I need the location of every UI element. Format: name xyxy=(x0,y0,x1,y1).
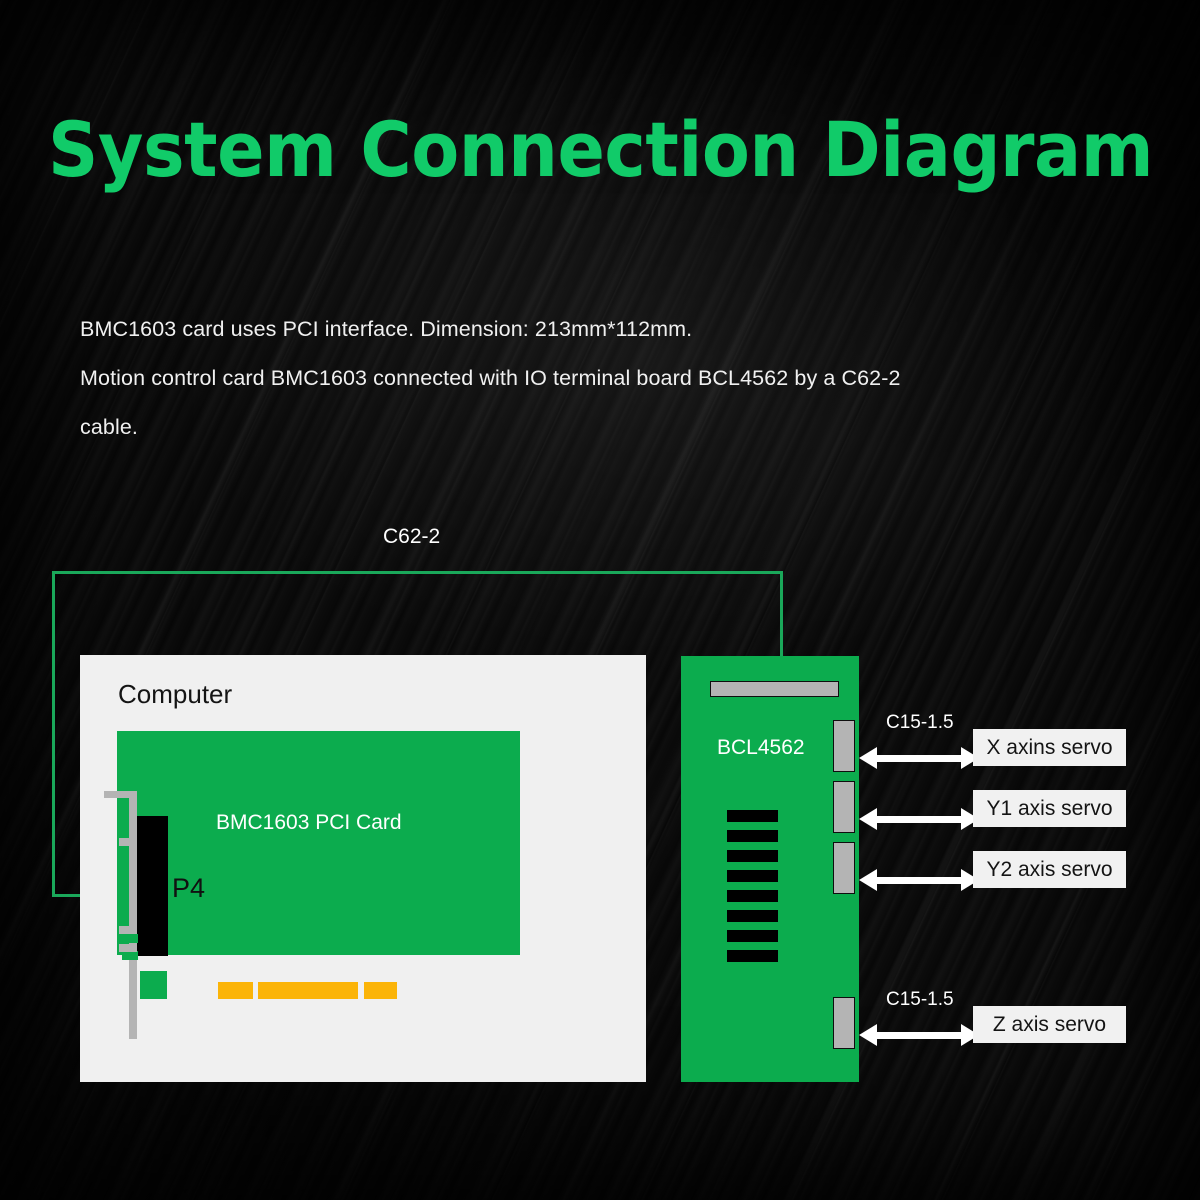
pci-edge-finger-2 xyxy=(258,982,358,999)
pci-card-label: BMC1603 PCI Card xyxy=(216,812,402,833)
bracket-tab-a xyxy=(119,838,137,846)
servo-box-y1: Y1 axis servo xyxy=(973,790,1126,827)
bcl4562-port-y1[interactable] xyxy=(833,781,855,833)
cable-segment-top xyxy=(52,571,783,574)
double-arrow-icon xyxy=(859,1024,979,1046)
terminal-block xyxy=(727,890,778,902)
system-connection-diagram: C62-2 Computer BMC1603 PCI Card P4 BCL45… xyxy=(0,0,1200,1200)
bcl4562-port-z[interactable] xyxy=(833,997,855,1049)
terminal-block xyxy=(727,830,778,842)
arrow-shaft xyxy=(873,877,967,884)
cable-segment-right xyxy=(780,571,783,657)
double-arrow-icon xyxy=(859,808,979,830)
computer-label: Computer xyxy=(118,681,232,707)
pci-edge-finger-3 xyxy=(364,982,397,999)
bracket-stem xyxy=(129,792,137,1039)
cable-label-c62-2: C62-2 xyxy=(383,525,440,549)
cable-label-c15-x: C15-1.5 xyxy=(886,712,954,734)
servo-box-y2: Y2 axis servo xyxy=(973,851,1126,888)
terminal-block xyxy=(727,810,778,822)
pci-edge-finger-1 xyxy=(218,982,253,999)
pci-card-green-chip xyxy=(140,971,167,999)
double-arrow-icon xyxy=(859,869,979,891)
terminal-block xyxy=(727,910,778,922)
terminal-block xyxy=(727,870,778,882)
p4-label: P4 xyxy=(172,875,205,902)
terminal-block xyxy=(727,930,778,942)
cable-segment-left xyxy=(52,571,55,897)
servo-box-z: Z axis servo xyxy=(973,1006,1126,1043)
bcl4562-header-connector xyxy=(710,681,839,697)
cable-label-c15-z: C15-1.5 xyxy=(886,989,954,1011)
diagram-page: System Connection Diagram BMC1603 card u… xyxy=(0,0,1200,1200)
arrow-shaft xyxy=(873,1032,967,1039)
bracket-tab-b xyxy=(119,926,137,934)
terminal-block xyxy=(727,850,778,862)
p4-connector-block xyxy=(137,816,168,956)
double-arrow-icon xyxy=(859,747,979,769)
bcl4562-label: BCL4562 xyxy=(717,737,805,758)
bmc1603-pci-card xyxy=(117,731,520,955)
servo-box-x: X axins servo xyxy=(973,729,1126,766)
bracket-green-tab-4 xyxy=(122,951,138,960)
bcl4562-port-y2[interactable] xyxy=(833,842,855,894)
bracket-tab-c xyxy=(119,944,137,952)
arrow-shaft xyxy=(873,816,967,823)
bracket-green-tab-3 xyxy=(122,934,138,943)
bcl4562-port-x[interactable] xyxy=(833,720,855,772)
arrow-shaft xyxy=(873,755,967,762)
terminal-block xyxy=(727,950,778,962)
